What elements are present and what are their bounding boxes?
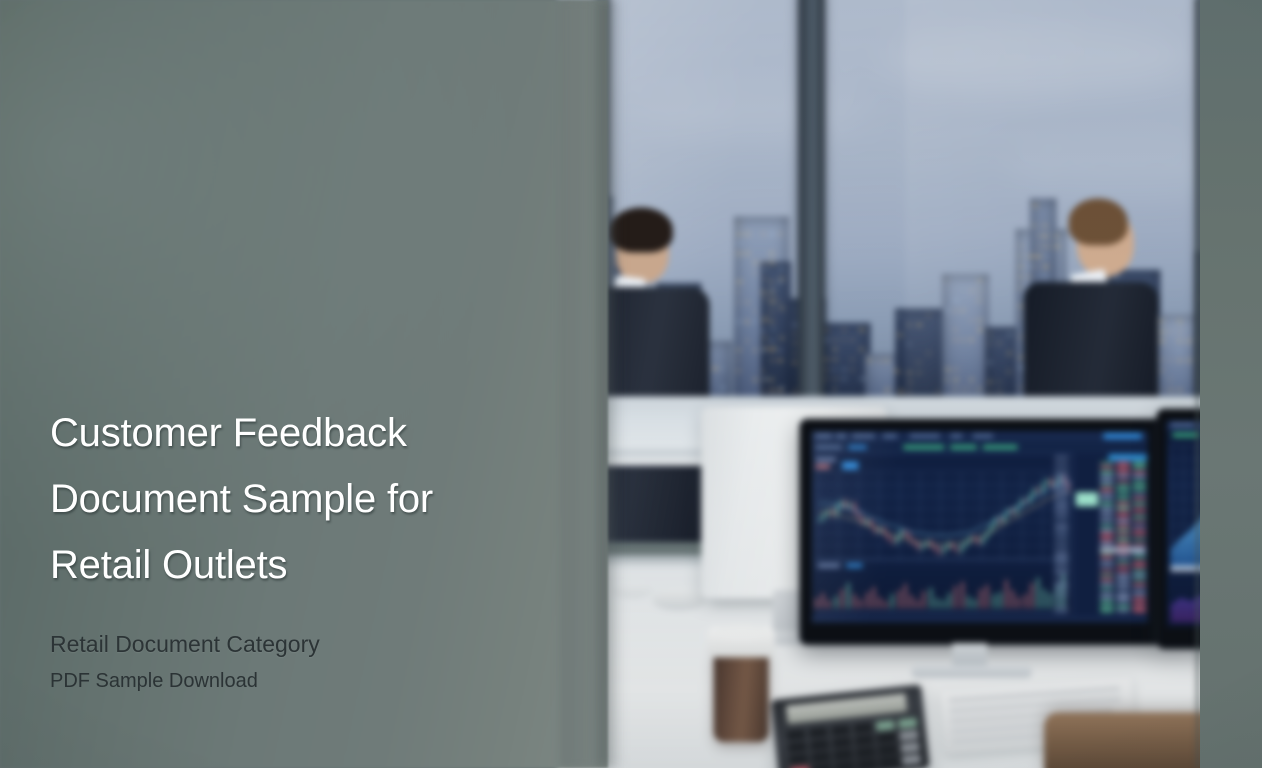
screen-glare — [812, 431, 934, 623]
right-gray-band — [1200, 0, 1262, 768]
right-band-edge — [1192, 0, 1200, 768]
order-book-highlight — [1076, 492, 1098, 506]
trading-monitor-primary — [799, 419, 1162, 645]
calculator — [771, 684, 930, 768]
hair — [1069, 198, 1128, 245]
monitor-stand-base — [912, 666, 1032, 678]
order-book-panel — [1073, 453, 1148, 616]
wall-drop-shadow — [598, 0, 624, 768]
coffee-cup-lid-top — [714, 625, 769, 641]
window-mullion — [798, 0, 825, 441]
price-ladder — [1052, 455, 1070, 614]
cover-text-block: Customer Feedback Document Sample for Re… — [50, 400, 570, 698]
calculator-display — [786, 693, 908, 724]
page-title: Customer Feedback Document Sample for Re… — [50, 400, 570, 598]
document-subtitle: PDF Sample Download — [50, 662, 570, 698]
document-category: Retail Document Category — [50, 598, 570, 662]
document-cover-page: Customer Feedback Document Sample for Re… — [0, 0, 1262, 768]
computer-mouse — [652, 588, 705, 610]
coffee-cup — [714, 650, 769, 742]
terminal-action-button — [1103, 433, 1142, 439]
